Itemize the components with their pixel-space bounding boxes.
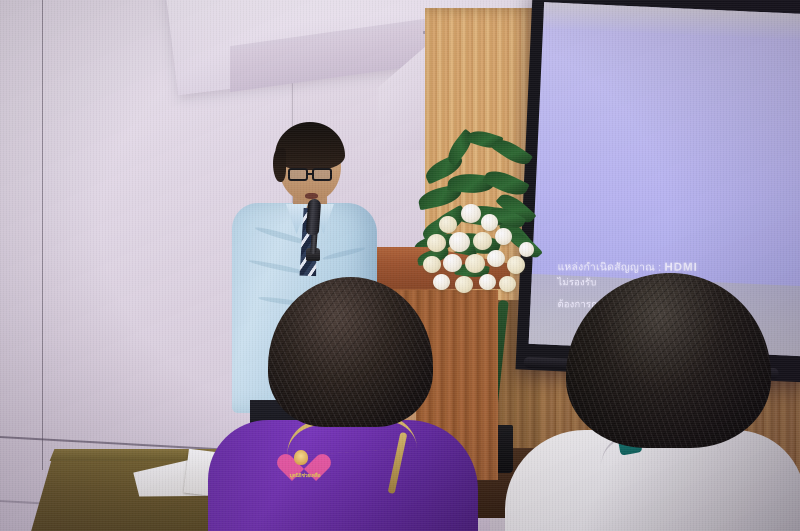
speaker-hair-sideburn — [273, 148, 286, 182]
rose-bouquet — [425, 198, 540, 296]
logo-text: มูลนิธิช่วยเหลือ — [283, 472, 327, 480]
photo-scene: แหล่งกำเนิดสัญญาณ : HDMI ไม่รองรับ ต้องก… — [0, 0, 800, 531]
wall-seam-vertical — [42, 0, 43, 470]
heart-logo-figure — [294, 450, 308, 465]
speaker-mouth — [305, 193, 318, 199]
attendee-left-logo: มูลนิธิช่วยเหลือ — [283, 443, 327, 483]
screen-source-label: แหล่งกำเนิดสัญญาณ : — [557, 261, 661, 273]
eyeglasses-bridge — [307, 173, 313, 175]
screen-source-value: HDMI — [664, 262, 697, 274]
microphone-head[interactable] — [306, 199, 321, 236]
screen-top-shading — [543, 2, 800, 41]
eyeglasses-lens-right — [312, 168, 332, 181]
eyeglasses-lens-left — [288, 168, 308, 181]
